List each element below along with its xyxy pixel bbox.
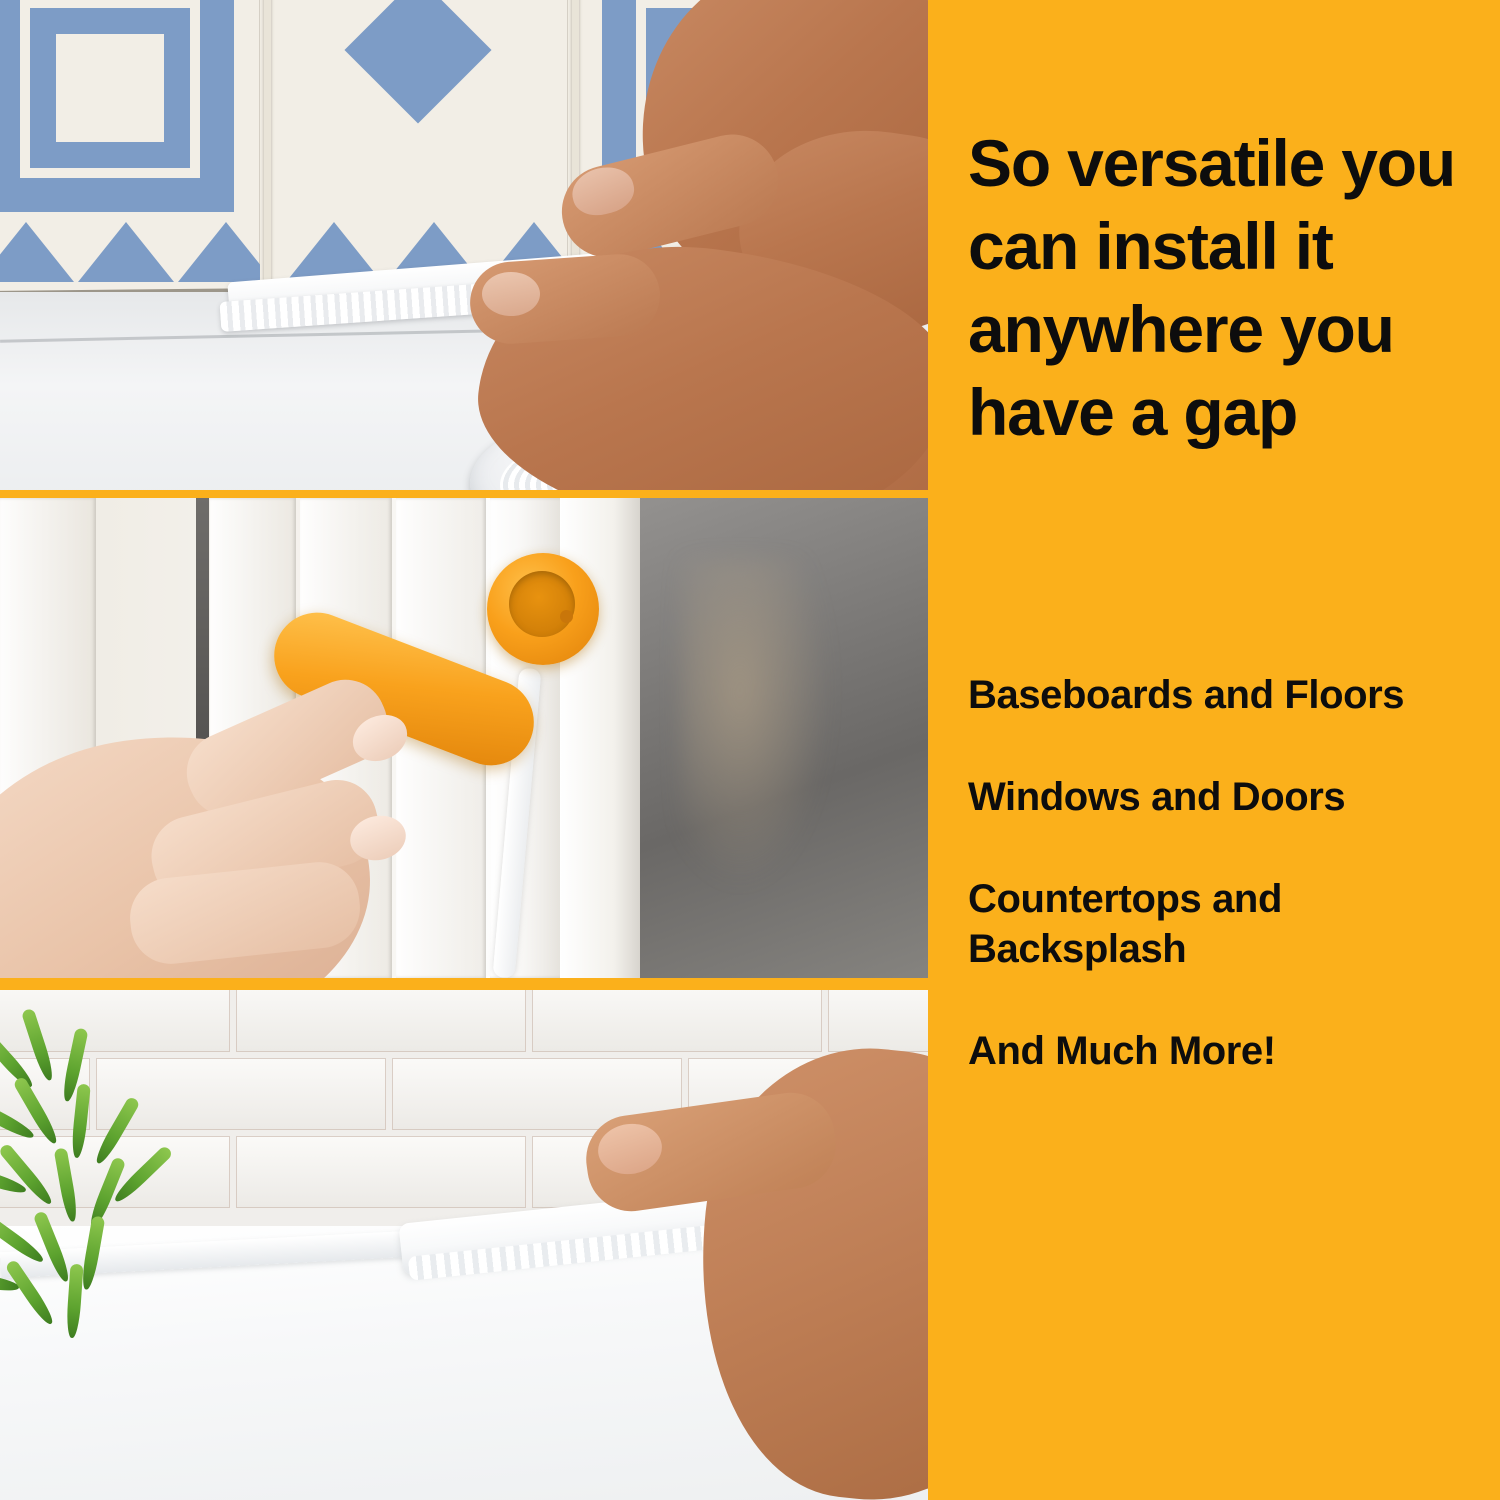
list-item: Countertops and Backsplash [968, 874, 1488, 974]
orange-applicator-tool-vent-hole [560, 610, 573, 623]
photo-window-frame-install [0, 498, 928, 978]
photo-countertop-backsplash-install [0, 990, 928, 1500]
photo-column [0, 0, 928, 1500]
product-feature-graphic: So versatile you can install it anywhere… [0, 0, 1500, 1500]
text-panel: So versatile you can install it anywhere… [928, 0, 1500, 1500]
use-case-list: Baseboards and Floors Windows and Doors … [968, 670, 1488, 1076]
green-plant [0, 998, 200, 1288]
fingernail-lower [482, 272, 540, 316]
list-item: And Much More! [968, 1026, 1488, 1076]
list-item: Windows and Doors [968, 772, 1488, 822]
photo-tile-backsplash-install [0, 0, 928, 490]
list-item: Baseboards and Floors [968, 670, 1488, 720]
window-glass-pane [640, 498, 928, 978]
page-title: So versatile you can install it anywhere… [968, 122, 1488, 454]
orange-applicator-tool-head [487, 553, 599, 665]
